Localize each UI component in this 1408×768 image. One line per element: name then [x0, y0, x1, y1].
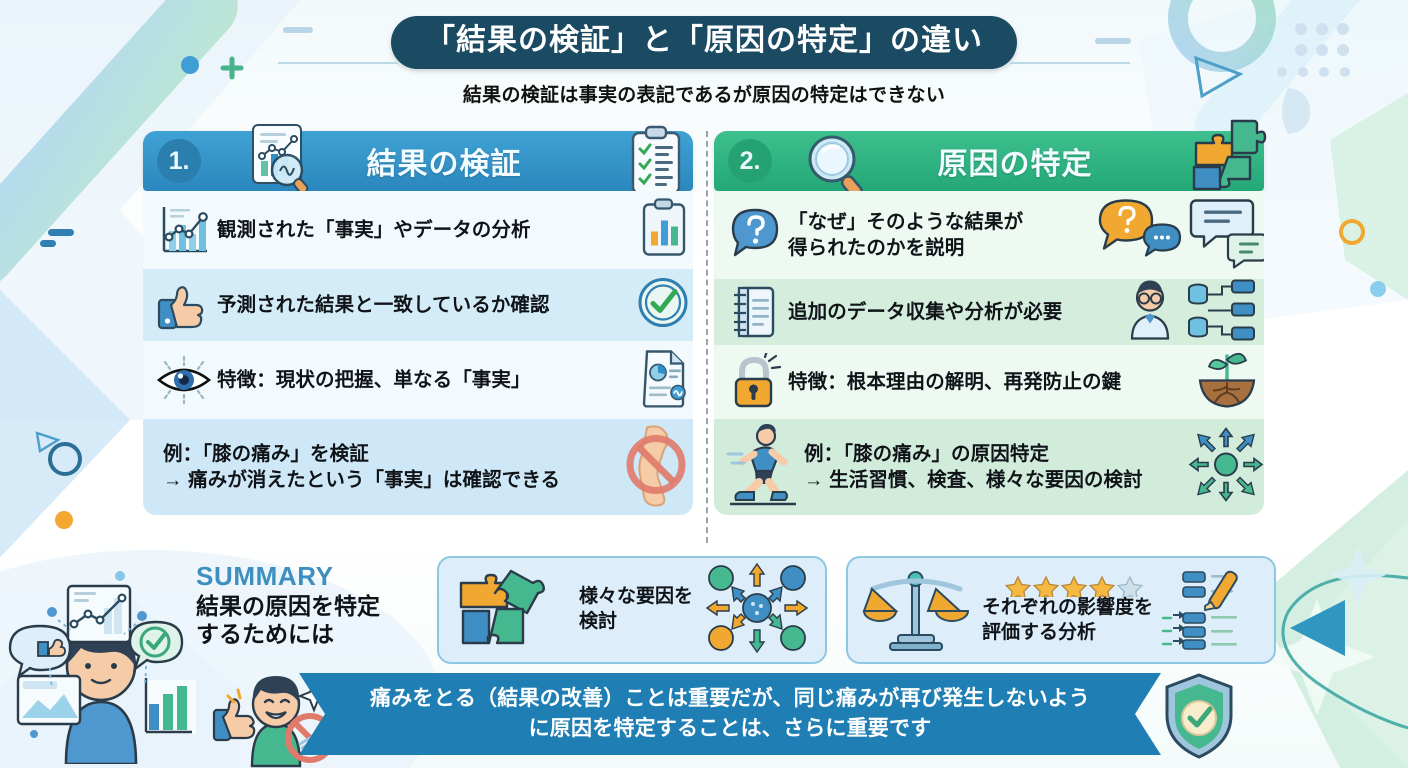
factor-arrows-icon — [705, 562, 809, 659]
line-bar-chart-icon — [151, 201, 217, 259]
list-item: 予測された結果と一致しているか確認 — [143, 269, 693, 341]
converging-arrows-icon — [1186, 425, 1264, 510]
summary-box-text: 様々な要因を 検討 — [579, 585, 693, 634]
infographic-canvas: 「結果の検証」と「原因の特定」の違い 結果の検証は事実の表記であるが原因の特定は… — [0, 0, 1408, 768]
list-item: 特徴：根本理由の解明、再発防止の鍵 — [714, 345, 1264, 419]
list-item: 追加のデータ収集や分析が必要 — [714, 279, 1264, 345]
eye-icon — [151, 352, 217, 408]
star-rating — [1004, 575, 1153, 594]
chat-bubbles-icon — [1096, 197, 1264, 274]
list-item-text: 予測された結果と一致しているか確認 — [217, 292, 550, 318]
title-rule-right — [1010, 62, 1130, 64]
column-verification: 1. — [143, 131, 693, 515]
column-header-verification: 1. — [143, 131, 693, 191]
list-item-text: 特徴：現状の把握、単なる「事実」 — [217, 367, 531, 393]
list-item: 観測された「事実」やデータの分析 — [143, 191, 693, 269]
column-rows-verification: 観測された「事実」やデータの分析 — [143, 191, 693, 515]
balance-scale-icon — [862, 565, 970, 656]
thumbs-up-icon — [151, 278, 217, 332]
shield-check-icon — [1160, 672, 1238, 765]
list-item-example: 例：「膝の痛み」を検証 → 痛みが消えたという「事実」は確認できる — [143, 419, 693, 515]
list-item: 「なぜ」そのような結果が 得られたのかを説明 — [714, 191, 1264, 279]
puzzle-pieces-icon — [455, 567, 563, 654]
column-header-cause: 2. 原因の特定 — [714, 131, 1264, 191]
summary-kicker: SUMMARY — [196, 561, 380, 592]
plant-roots-icon — [1194, 349, 1260, 416]
column-rows-cause: 「なぜ」そのような結果が 得られたのかを説明 — [714, 191, 1264, 515]
summary-line-2: するためには — [196, 620, 380, 648]
banner-text: 痛みをとる（結果の改善）ことは重要だが、同じ痛みが再び発生しないよう に原因を特… — [324, 684, 1136, 745]
summary-label: SUMMARY 結果の原因を特定 するためには — [196, 561, 380, 648]
list-item-text: 例：「膝の痛み」の原因特定 → 生活習慣、検査、様々な要因の検討 — [804, 441, 1143, 493]
lock-icon — [722, 353, 788, 411]
impact-text-block: それぞれの影響度を 評価する分析 — [982, 575, 1153, 645]
no-knee-pain-icon — [623, 422, 689, 513]
person-insights-icon — [6, 568, 196, 768]
title-rule-left — [278, 62, 398, 64]
list-item-text: 「なぜ」そのような結果が 得られたのかを説明 — [788, 209, 1023, 261]
list-item-text: 特徴：根本理由の解明、再発防止の鍵 — [788, 369, 1121, 395]
list-item: 特徴：現状の把握、単なる「事実」 — [143, 341, 693, 419]
question-bubble-icon — [722, 206, 788, 264]
running-person-icon — [722, 424, 804, 510]
summary-line-1: 結果の原因を特定 — [196, 592, 380, 620]
notebook-icon — [722, 283, 788, 341]
list-item-text: 例：「膝の痛み」を検証 → 痛みが消えたという「事実」は確認できる — [151, 441, 560, 493]
comparison-columns: 1. — [0, 131, 1408, 541]
page-subtitle: 結果の検証は事実の表記であるが原因の特定はできない — [0, 80, 1408, 107]
summary-box-impact: それぞれの影響度を 評価する分析 — [846, 556, 1276, 664]
ranking-list-icon — [1161, 566, 1243, 655]
summary-box-text: それぞれの影響度を 評価する分析 — [982, 596, 1153, 645]
clipboard-bar-chart-icon — [639, 197, 689, 264]
check-circle-icon — [637, 277, 689, 334]
list-item-text: 観測された「事実」やデータの分析 — [217, 217, 531, 243]
title-block: 「結果の検証」と「原因の特定」の違い 結果の検証は事実の表記であるが原因の特定は… — [0, 16, 1408, 107]
report-document-icon — [641, 348, 689, 413]
column-cause-identification: 2. 原因の特定 — [714, 131, 1264, 515]
list-item-text: 追加のデータ収集や分析が必要 — [788, 299, 1062, 325]
page-title: 「結果の検証」と「原因の特定」の違い — [391, 16, 1017, 69]
bottom-banner: 痛みをとる（結果の改善）ことは重要だが、同じ痛みが再び発生しないよう に原因を特… — [299, 673, 1161, 755]
summary-box-factors: 様々な要因を 検討 — [437, 556, 827, 664]
list-item-example: 例：「膝の痛み」の原因特定 → 生活習慣、検査、様々な要因の検討 — [714, 419, 1264, 515]
analyst-database-icon — [1112, 279, 1264, 345]
